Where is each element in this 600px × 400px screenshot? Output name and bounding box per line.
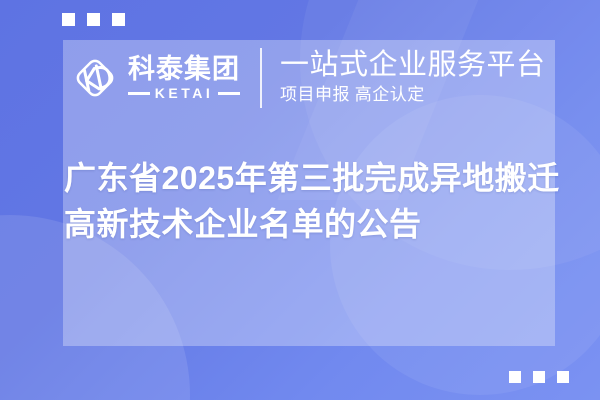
ketai-diamond-kd-logo-icon (70, 53, 120, 103)
brand-rule-left (128, 92, 150, 95)
brand-name-cn: 科泰集团 (128, 55, 240, 83)
slogan-block: 一站式企业服务平台 项目申报 高企认定 (280, 50, 546, 106)
square-dot (533, 371, 545, 383)
brand-name-en-row: KETAI (128, 85, 240, 101)
slogan-primary: 一站式企业服务平台 (280, 50, 546, 81)
decorative-dots-top-left (62, 13, 125, 26)
page-title: 广东省2025年第三批完成异地搬迁 高新技术企业名单的公告 (64, 155, 584, 247)
brand-lockup: 科泰集团 KETAI (70, 53, 240, 103)
square-dot (557, 371, 569, 383)
square-dot (112, 13, 125, 26)
page-title-line-2: 高新技术企业名单的公告 (64, 201, 584, 247)
square-dot (62, 13, 75, 26)
brand-rule-right (218, 92, 240, 95)
vertical-divider (260, 48, 262, 108)
brand-name-en: KETAI (155, 85, 213, 101)
decorative-dots-bottom-right (509, 371, 569, 383)
banner-header: 科泰集团 KETAI 一站式企业服务平台 项目申报 高企认定 (63, 42, 563, 114)
square-dot (509, 371, 521, 383)
brand-text: 科泰集团 KETAI (128, 55, 240, 101)
page-title-line-1: 广东省2025年第三批完成异地搬迁 (64, 155, 584, 201)
banner-image: 科泰集团 KETAI 一站式企业服务平台 项目申报 高企认定 广东省2025年第… (0, 0, 600, 400)
slogan-secondary: 项目申报 高企认定 (280, 84, 546, 106)
square-dot (87, 13, 100, 26)
